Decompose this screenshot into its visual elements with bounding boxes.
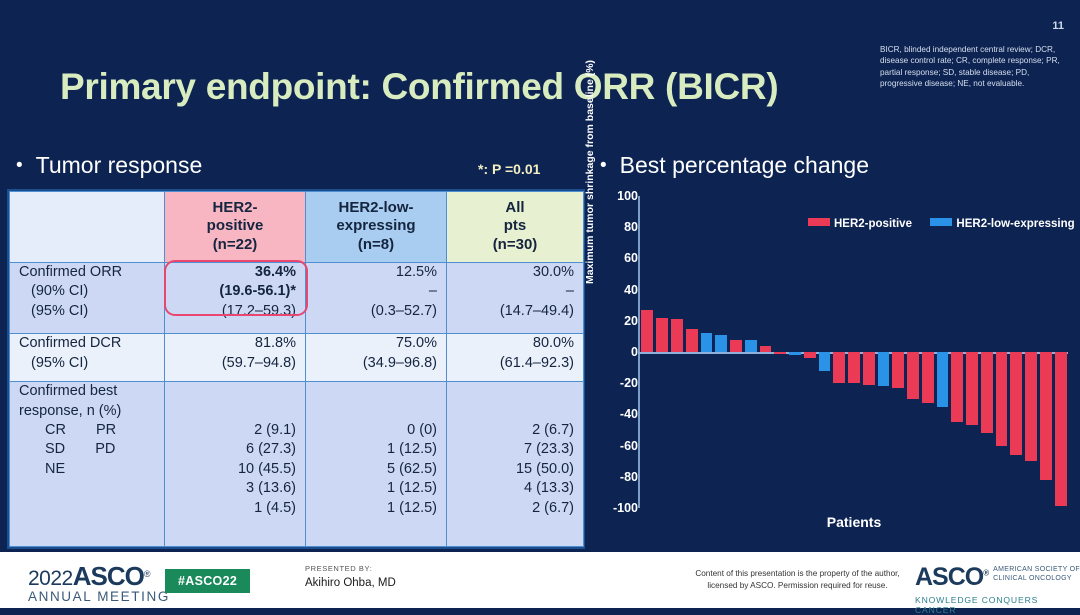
waterfall-bar xyxy=(671,319,683,352)
best-hl-ne: 1 (12.5) xyxy=(315,499,437,518)
orr-all-cell: 30.0% – (14.7–49.4) xyxy=(447,262,584,333)
dcr-label-line1: Confirmed DCR xyxy=(19,334,155,353)
waterfall-bar xyxy=(878,352,890,386)
waterfall-bar xyxy=(922,352,934,403)
dcr-all-cell: 80.0% (61.4–92.3) xyxy=(447,334,584,382)
dcr-label-line2: (95% CI) xyxy=(19,354,88,373)
registered-mark-icon-2: ® xyxy=(983,569,988,578)
table-row-confirmed-dcr: Confirmed DCR (95% CI) 81.8% (59.7–94.8)… xyxy=(10,334,584,382)
row-label-best-response: Confirmed best response, n (%) CR PR SD … xyxy=(10,382,165,547)
waterfall-bar xyxy=(937,352,949,407)
waterfall-bar xyxy=(863,352,875,385)
waterfall-bar xyxy=(1025,352,1037,461)
dcr-hl-ci95: (34.9–96.8) xyxy=(315,354,437,373)
best-hp-pr: 6 (27.3) xyxy=(174,440,296,459)
asco-tagline: KNOWLEDGE CONQUERS CANCER xyxy=(915,595,1080,615)
waterfall-bar xyxy=(1040,352,1052,480)
column-header-her2-low: HER2-low- expressing (n=8) xyxy=(306,192,447,263)
slide-root: 11 BICR, blinded independent central rev… xyxy=(0,0,1080,608)
waterfall-bar xyxy=(996,352,1008,446)
slide-footer: 2022ASCO® ANNUAL MEETING #ASCO22 PRESENT… xyxy=(0,552,1080,608)
rights-notice: Content of this presentation is the prop… xyxy=(690,568,905,592)
bullet-dot-icon: • xyxy=(16,155,23,177)
asco-wordmark: ASCO® xyxy=(915,563,988,592)
waterfall-bar xyxy=(892,352,904,388)
chart-x-axis-label: Patients xyxy=(640,514,1068,530)
best-hp-pd: 3 (13.6) xyxy=(174,479,296,498)
dcr-all-value: 80.0% xyxy=(456,334,574,353)
best-hl-cr: 0 (0) xyxy=(315,421,437,440)
best-label-line1: Confirmed best xyxy=(19,382,155,401)
orr-all-ci90: – xyxy=(456,282,574,301)
dcr-hl-value: 75.0% xyxy=(315,334,437,353)
best-all-sd: 15 (50.0) xyxy=(456,460,574,479)
row-label-confirmed-dcr: Confirmed DCR (95% CI) xyxy=(10,334,165,382)
waterfall-bar xyxy=(760,346,772,352)
waterfall-bar xyxy=(981,352,993,433)
best-response-all-cell: 2 (6.7) 7 (23.3) 15 (50.0) 4 (13.3) 2 (6… xyxy=(447,382,584,547)
orr-all-value: 30.0% xyxy=(456,263,574,282)
column-header-her2-positive: HER2- positive (n=22) xyxy=(165,192,306,263)
presented-by-label: PRESENTED BY: xyxy=(305,564,396,573)
waterfall-bar xyxy=(848,352,860,383)
dcr-her2-positive-cell: 81.8% (59.7–94.8) xyxy=(165,334,306,382)
orr-her2-low-cell: 12.5% – (0.3–52.7) xyxy=(306,262,447,333)
legend-item-her2-low: HER2-low-expressing xyxy=(930,214,1074,232)
y-tick--60: -60 xyxy=(598,439,638,453)
orr-hl-ci90: – xyxy=(315,282,437,301)
meeting-subtitle: ANNUAL MEETING xyxy=(28,589,170,604)
best-item-label-ne: NE xyxy=(19,460,65,479)
best-hl-pd: 1 (12.5) xyxy=(315,479,437,498)
y-tick-20: 20 xyxy=(598,314,638,328)
legend-label-her2-positive: HER2-positive xyxy=(834,218,912,230)
bullet-dot-icon-2: • xyxy=(600,155,607,177)
dcr-hp-ci95: (59.7–94.8) xyxy=(174,354,296,373)
hashtag-badge: #ASCO22 xyxy=(165,569,250,593)
asco-annual-meeting-logo: 2022ASCO® ANNUAL MEETING xyxy=(28,561,170,604)
waterfall-bar xyxy=(1010,352,1022,455)
y-tick-80: 80 xyxy=(598,220,638,234)
y-tick-0: 0 xyxy=(598,345,638,359)
abbreviations-note: BICR, blinded independent central review… xyxy=(880,44,1066,89)
best-hl-pr: 1 (12.5) xyxy=(315,440,437,459)
waterfall-bar xyxy=(774,352,786,354)
waterfall-bar xyxy=(641,310,653,352)
presenter-name: Akihiro Ohba, MD xyxy=(305,577,396,589)
y-tick-100: 100 xyxy=(598,189,638,203)
orr-hp-ci95: (17.2–59.3) xyxy=(174,302,296,321)
waterfall-bar xyxy=(715,335,727,352)
p-value-note: *: P =0.01 xyxy=(478,161,540,177)
y-tick--20: -20 xyxy=(598,376,638,390)
orr-her2-positive-cell: 36.4% (19.6-56.1)* (17.2–59.3) xyxy=(165,262,306,333)
column-header-all-pts: All pts (n=30) xyxy=(447,192,584,263)
best-all-cr: 2 (6.7) xyxy=(456,421,574,440)
best-hp-cr: 2 (9.1) xyxy=(174,421,296,440)
waterfall-chart: Maximum tumor shrinkage from baseline (%… xyxy=(590,196,1072,544)
waterfall-bar xyxy=(686,329,698,352)
waterfall-bar xyxy=(833,352,845,383)
chart-plot-area xyxy=(640,196,1068,508)
page-number: 11 xyxy=(1052,20,1064,32)
orr-hl-ci95: (0.3–52.7) xyxy=(315,302,437,321)
best-item-label-pd: PD xyxy=(69,440,115,459)
registered-mark-icon: ® xyxy=(144,569,150,579)
waterfall-bar xyxy=(907,352,919,399)
y-tick-40: 40 xyxy=(598,283,638,297)
waterfall-bar xyxy=(819,352,831,371)
section-heading-tumor-response: •Tumor response xyxy=(16,152,202,179)
legend-label-her2-low: HER2-low-expressing xyxy=(956,218,1074,230)
waterfall-bar xyxy=(701,333,713,352)
best-response-her2-positive-cell: 2 (9.1) 6 (27.3) 10 (45.5) 3 (13.6) 1 (4… xyxy=(165,382,306,547)
orr-label-line1: Confirmed ORR xyxy=(19,263,155,282)
waterfall-bar xyxy=(656,318,668,352)
orr-hp-value: 36.4% xyxy=(174,263,296,282)
waterfall-bar xyxy=(966,352,978,425)
orr-hp-ci90: (19.6-56.1)* xyxy=(174,282,296,301)
legend-item-her2-positive: HER2-positive xyxy=(808,214,912,232)
orr-all-ci95: (14.7–49.4) xyxy=(456,302,574,321)
chart-y-axis-ticks: 100806040200-20-40-60-80-100 xyxy=(590,196,638,508)
best-label-line2: response, n (%) xyxy=(19,402,155,421)
section-heading-right-label: Best percentage change xyxy=(620,152,869,178)
waterfall-bar xyxy=(951,352,963,422)
page-title: Primary endpoint: Confirmed ORR (BICR) xyxy=(60,66,778,108)
asco-society-logo: ASCO®AMERICAN SOCIETY OFCLINICAL ONCOLOG… xyxy=(915,563,1080,615)
orr-label-line3: (95% CI) xyxy=(19,302,88,321)
best-all-ne: 2 (6.7) xyxy=(456,499,574,518)
meeting-year: 2022 xyxy=(28,567,73,590)
best-hp-sd: 10 (45.5) xyxy=(174,460,296,479)
table-row-confirmed-orr: Confirmed ORR (90% CI) (95% CI) 36.4% (1… xyxy=(10,262,584,333)
dcr-her2-low-cell: 75.0% (34.9–96.8) xyxy=(306,334,447,382)
society-name: AMERICAN SOCIETY OFCLINICAL ONCOLOGY xyxy=(993,565,1080,584)
chart-legend: HER2-positive HER2-low-expressing xyxy=(808,214,1080,232)
waterfall-bar xyxy=(804,352,816,358)
y-tick--40: -40 xyxy=(598,407,638,421)
best-item-label-sd: SD xyxy=(19,440,65,459)
best-all-pr: 7 (23.3) xyxy=(456,440,574,459)
section-heading-left-label: Tumor response xyxy=(36,152,203,178)
waterfall-bar xyxy=(1055,352,1067,506)
presenter-block: PRESENTED BY: Akihiro Ohba, MD xyxy=(305,564,396,589)
best-all-pd: 4 (13.3) xyxy=(456,479,574,498)
dcr-hp-value: 81.8% xyxy=(174,334,296,353)
y-tick--100: -100 xyxy=(598,501,638,515)
y-tick-60: 60 xyxy=(598,251,638,265)
best-hp-ne: 1 (4.5) xyxy=(174,499,296,518)
orr-hl-value: 12.5% xyxy=(315,263,437,282)
row-label-confirmed-orr: Confirmed ORR (90% CI) (95% CI) xyxy=(10,262,165,333)
orr-label-line2: (90% CI) xyxy=(19,282,88,301)
y-tick--80: -80 xyxy=(598,470,638,484)
legend-swatch-her2-low xyxy=(930,218,952,226)
best-item-label-pr: PR xyxy=(70,421,116,440)
tumor-response-table-container: HER2- positive (n=22) HER2-low- expressi… xyxy=(7,189,585,549)
legend-swatch-her2-positive xyxy=(808,218,830,226)
tumor-response-table: HER2- positive (n=22) HER2-low- expressi… xyxy=(9,191,584,547)
waterfall-bar xyxy=(745,340,757,352)
meeting-brand: ASCO xyxy=(73,561,144,591)
waterfall-bar xyxy=(730,340,742,352)
column-header-blank xyxy=(10,192,165,263)
best-item-label-cr: CR xyxy=(19,421,66,440)
table-header-row: HER2- positive (n=22) HER2-low- expressi… xyxy=(10,192,584,263)
waterfall-bar xyxy=(789,352,801,355)
dcr-all-ci95: (61.4–92.3) xyxy=(456,354,574,373)
section-heading-best-percentage-change: •Best percentage change xyxy=(600,152,869,179)
best-hl-sd: 5 (62.5) xyxy=(315,460,437,479)
table-row-confirmed-best-response: Confirmed best response, n (%) CR PR SD … xyxy=(10,382,584,547)
best-response-her2-low-cell: 0 (0) 1 (12.5) 5 (62.5) 1 (12.5) 1 (12.5… xyxy=(306,382,447,547)
